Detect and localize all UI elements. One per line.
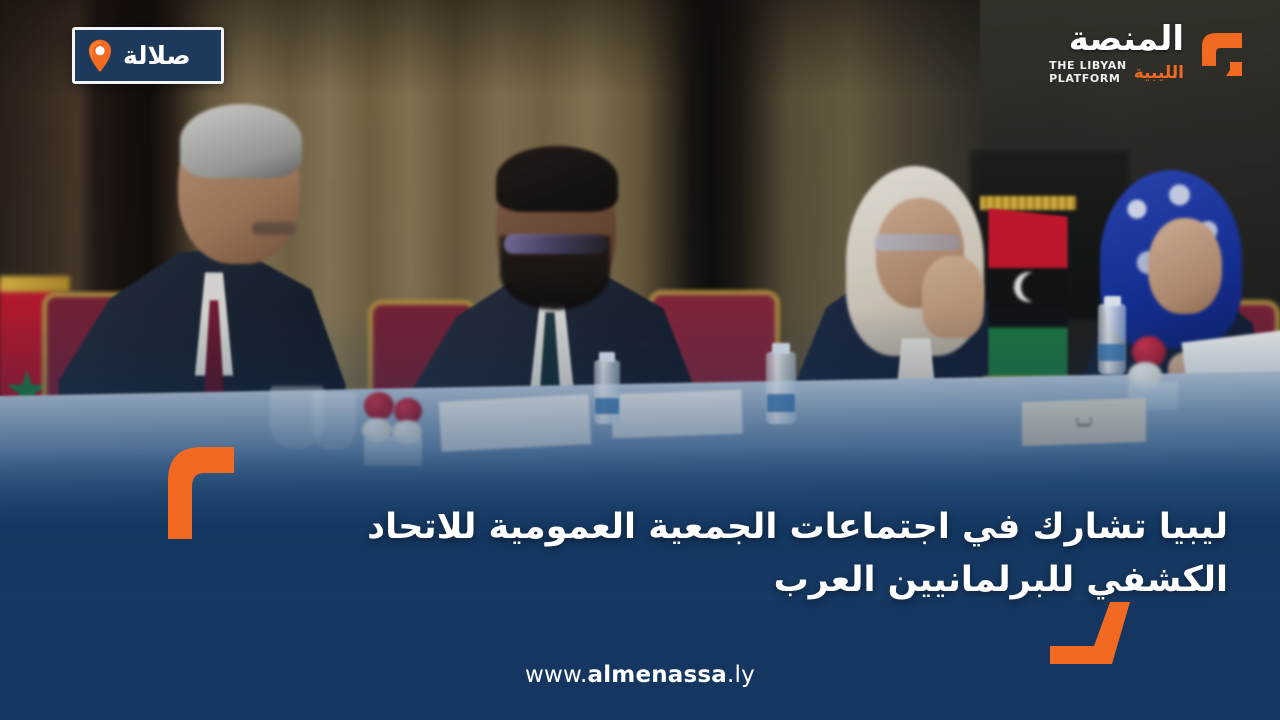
logo-arabic-name: المنصة [1069,22,1184,56]
map-pin-icon [87,39,113,73]
url-suffix: .ly [727,662,755,688]
logo-subtitle-row: THE LIBYAN PLATFORM الليبية [1049,60,1184,85]
url-brand: almenassa [587,662,727,688]
orange-bracket-bottom-right-icon [1050,602,1134,664]
almenassa-logo-mark-icon [1192,26,1250,82]
url-prefix: www. [525,662,587,688]
location-badge[interactable]: صلالة [72,27,224,84]
location-badge-label: صلالة [123,43,191,68]
logo-english-line2: PLATFORM [1049,72,1120,85]
site-logo[interactable]: المنصة THE LIBYAN PLATFORM الليبية [1049,18,1250,90]
logo-wordmark: المنصة THE LIBYAN PLATFORM الليبية [1049,22,1184,85]
orange-bracket-top-left-icon [168,447,234,539]
website-url[interactable]: www.almenassa.ly [0,662,1280,688]
logo-english-line1: THE LIBYAN [1049,59,1127,72]
logo-english-subtitle: THE LIBYAN PLATFORM [1049,60,1127,85]
page-title: ليبيا تشارك في اجتماعات الجمعية العمومية… [348,501,1228,606]
news-card: ليبيا صلالة المنصة THE LIBYAN PLATFORM [0,0,1280,720]
logo-arabic-subtitle: الليبية [1134,65,1184,82]
